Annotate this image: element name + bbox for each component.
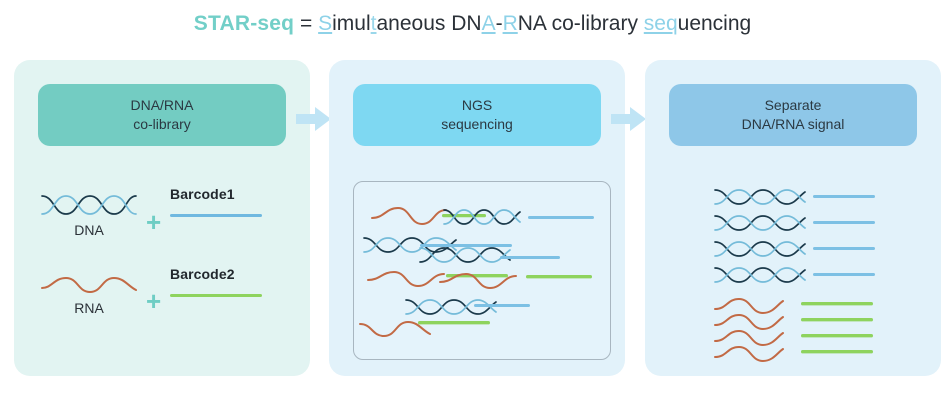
barcode1-line	[170, 214, 262, 217]
plus-icon-barcode1: +	[146, 209, 161, 235]
dna-signal-row-2	[715, 216, 875, 230]
panel-3-header-line2: DNA/RNA signal	[742, 115, 845, 134]
star-seq-workflow-figure: STAR-seq = Simultaneous DNA-RNA co-libra…	[0, 0, 945, 400]
panel-2-header-line1: NGS	[462, 96, 492, 115]
panel-2-header-line2: sequencing	[441, 115, 513, 134]
barcode2-line	[170, 294, 262, 297]
rna-label: RNA	[40, 300, 138, 316]
title-segment-aneous-dn: aneous DN	[377, 12, 482, 35]
dna-helix-icon	[40, 190, 138, 220]
panel-1-header-line1: DNA/RNA	[130, 96, 193, 115]
title-segment-na-colibrary: NA co-library	[518, 12, 644, 35]
rna-signal-row-2	[715, 315, 873, 329]
barcode1-label: Barcode1	[170, 186, 262, 202]
arrow-panel1-to-panel2-icon	[296, 105, 332, 133]
dna-signal-row-1	[715, 190, 875, 204]
figure-title: STAR-seq = Simultaneous DNA-RNA co-libra…	[0, 10, 945, 38]
panel-separate-signal: Separate DNA/RNA signal	[645, 60, 941, 376]
title-brand: STAR-seq	[194, 12, 294, 35]
panel-1-dna-group: DNA	[40, 190, 138, 238]
plus-icon-barcode2: +	[146, 288, 161, 314]
dna-label: DNA	[40, 222, 138, 238]
dna-signal-row-3	[715, 242, 875, 256]
barcode2-label: Barcode2	[170, 266, 262, 282]
title-equals: =	[294, 12, 318, 35]
panel-1-rna-group: RNA	[40, 272, 138, 316]
title-segment-imul: imul	[332, 12, 371, 35]
panel-1-header-line2: co-library	[133, 115, 191, 134]
dna-signal-row-4	[715, 268, 875, 282]
title-highlight-r: R	[503, 12, 518, 35]
rna-signal-row-1	[715, 299, 873, 313]
mixed-fragments-illustration	[354, 182, 611, 360]
rna-signal-row-3	[715, 331, 873, 345]
ngs-mixture-box	[353, 181, 611, 360]
title-highlight-a: A	[482, 12, 496, 35]
panel-3-header-line1: Separate	[765, 96, 822, 115]
title-highlight-seq: seq	[644, 12, 678, 35]
panel-3-header: Separate DNA/RNA signal	[669, 84, 917, 146]
arrow-panel2-to-panel3-icon	[611, 105, 647, 133]
barcode1-group: Barcode1	[170, 186, 262, 217]
panel-2-header: NGS sequencing	[353, 84, 601, 146]
title-highlight-s: S	[318, 12, 332, 35]
panel-1-header: DNA/RNA co-library	[38, 84, 286, 146]
separated-signal-illustration	[713, 178, 903, 358]
title-segment-dash: -	[496, 12, 503, 35]
rna-signal-row-4	[715, 347, 873, 361]
rna-squiggle-icon	[40, 272, 138, 298]
title-segment-uencing: uencing	[678, 12, 752, 35]
barcode2-group: Barcode2	[170, 266, 262, 297]
